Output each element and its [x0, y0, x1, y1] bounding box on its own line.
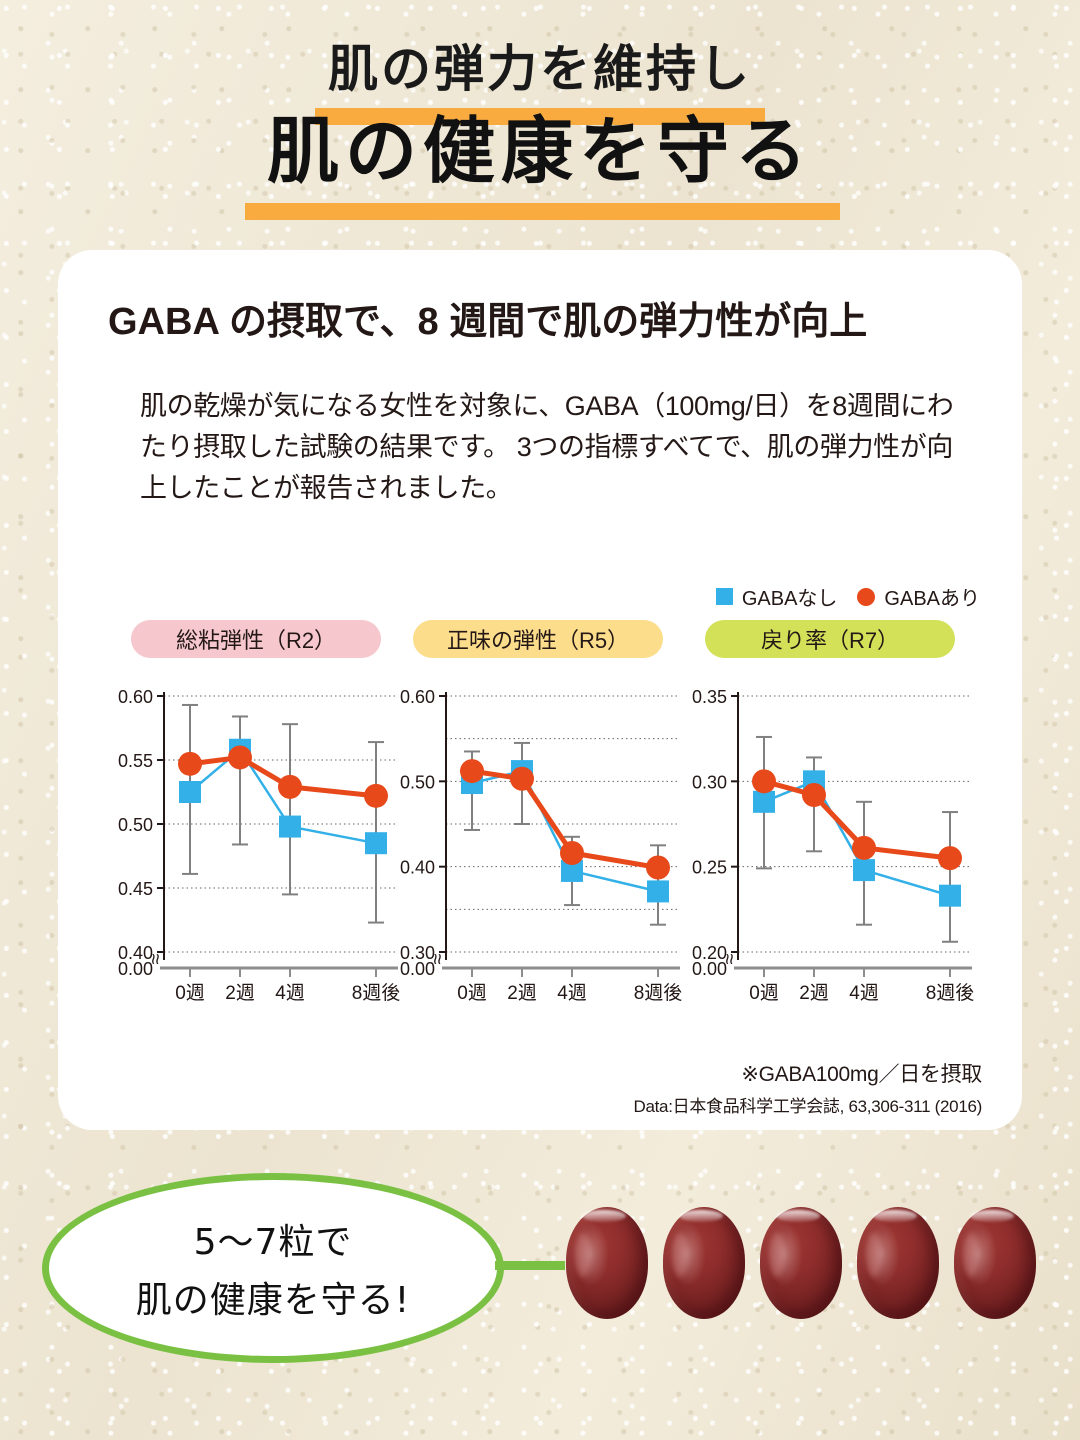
svg-text:4週: 4週 — [849, 982, 879, 1004]
square-marker-icon — [716, 588, 733, 605]
svg-text:4週: 4週 — [275, 982, 305, 1004]
supplement-pill — [760, 1207, 842, 1319]
svg-text:0.45: 0.45 — [118, 879, 153, 899]
supplement-pill — [663, 1207, 745, 1319]
chart-plot-r7: 0.200.250.300.350.00≈0週2週4週8週後 — [680, 680, 980, 1010]
headline-line1: 肌の弾力を維持し — [328, 44, 752, 94]
legend-item-gaba-none: GABAなし — [716, 582, 838, 611]
chart-legend: GABAなし GABAあり — [716, 582, 980, 611]
dosage-line2: 肌の健康を守る! — [136, 1271, 410, 1323]
chart-panel-r5: 正味の弾性（R5） 0.300.400.500.600.00≈0週2週4週8週後 — [388, 620, 688, 1040]
svg-text:0.30: 0.30 — [692, 772, 727, 792]
card-title: GABA の摂取で、8 週間で肌の弾力性が向上 — [108, 290, 988, 345]
charts-row: 総粘弾性（R2） 0.400.450.500.550.600.00≈0週2週4週… — [58, 620, 1022, 1040]
svg-text:0.40: 0.40 — [400, 858, 435, 878]
pill-row — [566, 1193, 1046, 1343]
legend-label: GABAなし — [742, 582, 838, 611]
chart-title-r7: 戻り率（R7） — [705, 620, 955, 658]
svg-text:0.55: 0.55 — [118, 751, 153, 771]
headline-block: 肌の弾力を維持し 肌の健康を守る — [0, 44, 1080, 190]
svg-text:0.60: 0.60 — [118, 687, 153, 707]
svg-text:0週: 0週 — [175, 982, 205, 1004]
chart-plot-r5: 0.300.400.500.600.00≈0週2週4週8週後 — [388, 680, 688, 1010]
svg-text:2週: 2週 — [225, 982, 255, 1004]
headline-line2: 肌の健康を守る — [0, 114, 1080, 190]
study-card: GABA の摂取で、8 週間で肌の弾力性が向上 肌の乾燥が気になる女性を対象に、… — [58, 250, 1022, 1130]
supplement-pill — [857, 1207, 939, 1319]
callout-connector-line — [495, 1261, 565, 1270]
chart-panel-r7: 戻り率（R7） 0.200.250.300.350.00≈0週2週4週8週後 — [680, 620, 980, 1040]
svg-text:0.50: 0.50 — [400, 772, 435, 792]
note-source: Data:日本食品科学工学会誌, 63,306-311 (2016) — [633, 1092, 982, 1117]
circle-marker-icon — [857, 588, 875, 606]
svg-text:0.50: 0.50 — [118, 815, 153, 835]
legend-label: GABAあり — [884, 582, 980, 611]
svg-text:0週: 0週 — [457, 982, 487, 1004]
dosage-line1: 5〜7粒で — [194, 1213, 353, 1265]
svg-text:8週後: 8週後 — [634, 982, 683, 1004]
svg-text:0.25: 0.25 — [692, 858, 727, 878]
svg-text:8週後: 8週後 — [926, 982, 975, 1004]
legend-item-gaba-yes: GABAあり — [857, 582, 980, 611]
svg-text:0.35: 0.35 — [692, 687, 727, 707]
svg-text:4週: 4週 — [557, 982, 587, 1004]
svg-text:0.60: 0.60 — [400, 687, 435, 707]
dosage-callout: 5〜7粒で 肌の健康を守る! — [42, 1173, 504, 1363]
note-dose: ※GABA100mg／日を摂取 — [741, 1058, 982, 1088]
bottom-section: 5〜7粒で 肌の健康を守る! — [0, 1165, 1080, 1410]
chart-plot-r2: 0.400.450.500.550.600.00≈0週2週4週8週後 — [106, 680, 406, 1010]
headline-underline-bottom — [245, 203, 840, 220]
chart-panel-r2: 総粘弾性（R2） 0.400.450.500.550.600.00≈0週2週4週… — [106, 620, 406, 1040]
svg-text:2週: 2週 — [507, 982, 537, 1004]
card-body-text: 肌の乾燥が気になる女性を対象に、GABA（100mg/日）を8週間にわたり摂取し… — [140, 386, 970, 509]
svg-text:0週: 0週 — [749, 982, 779, 1004]
chart-title-r2: 総粘弾性（R2） — [131, 620, 381, 658]
chart-title-r5: 正味の弾性（R5） — [413, 620, 663, 658]
svg-text:2週: 2週 — [799, 982, 829, 1004]
supplement-pill — [954, 1207, 1036, 1319]
supplement-pill — [566, 1207, 648, 1319]
